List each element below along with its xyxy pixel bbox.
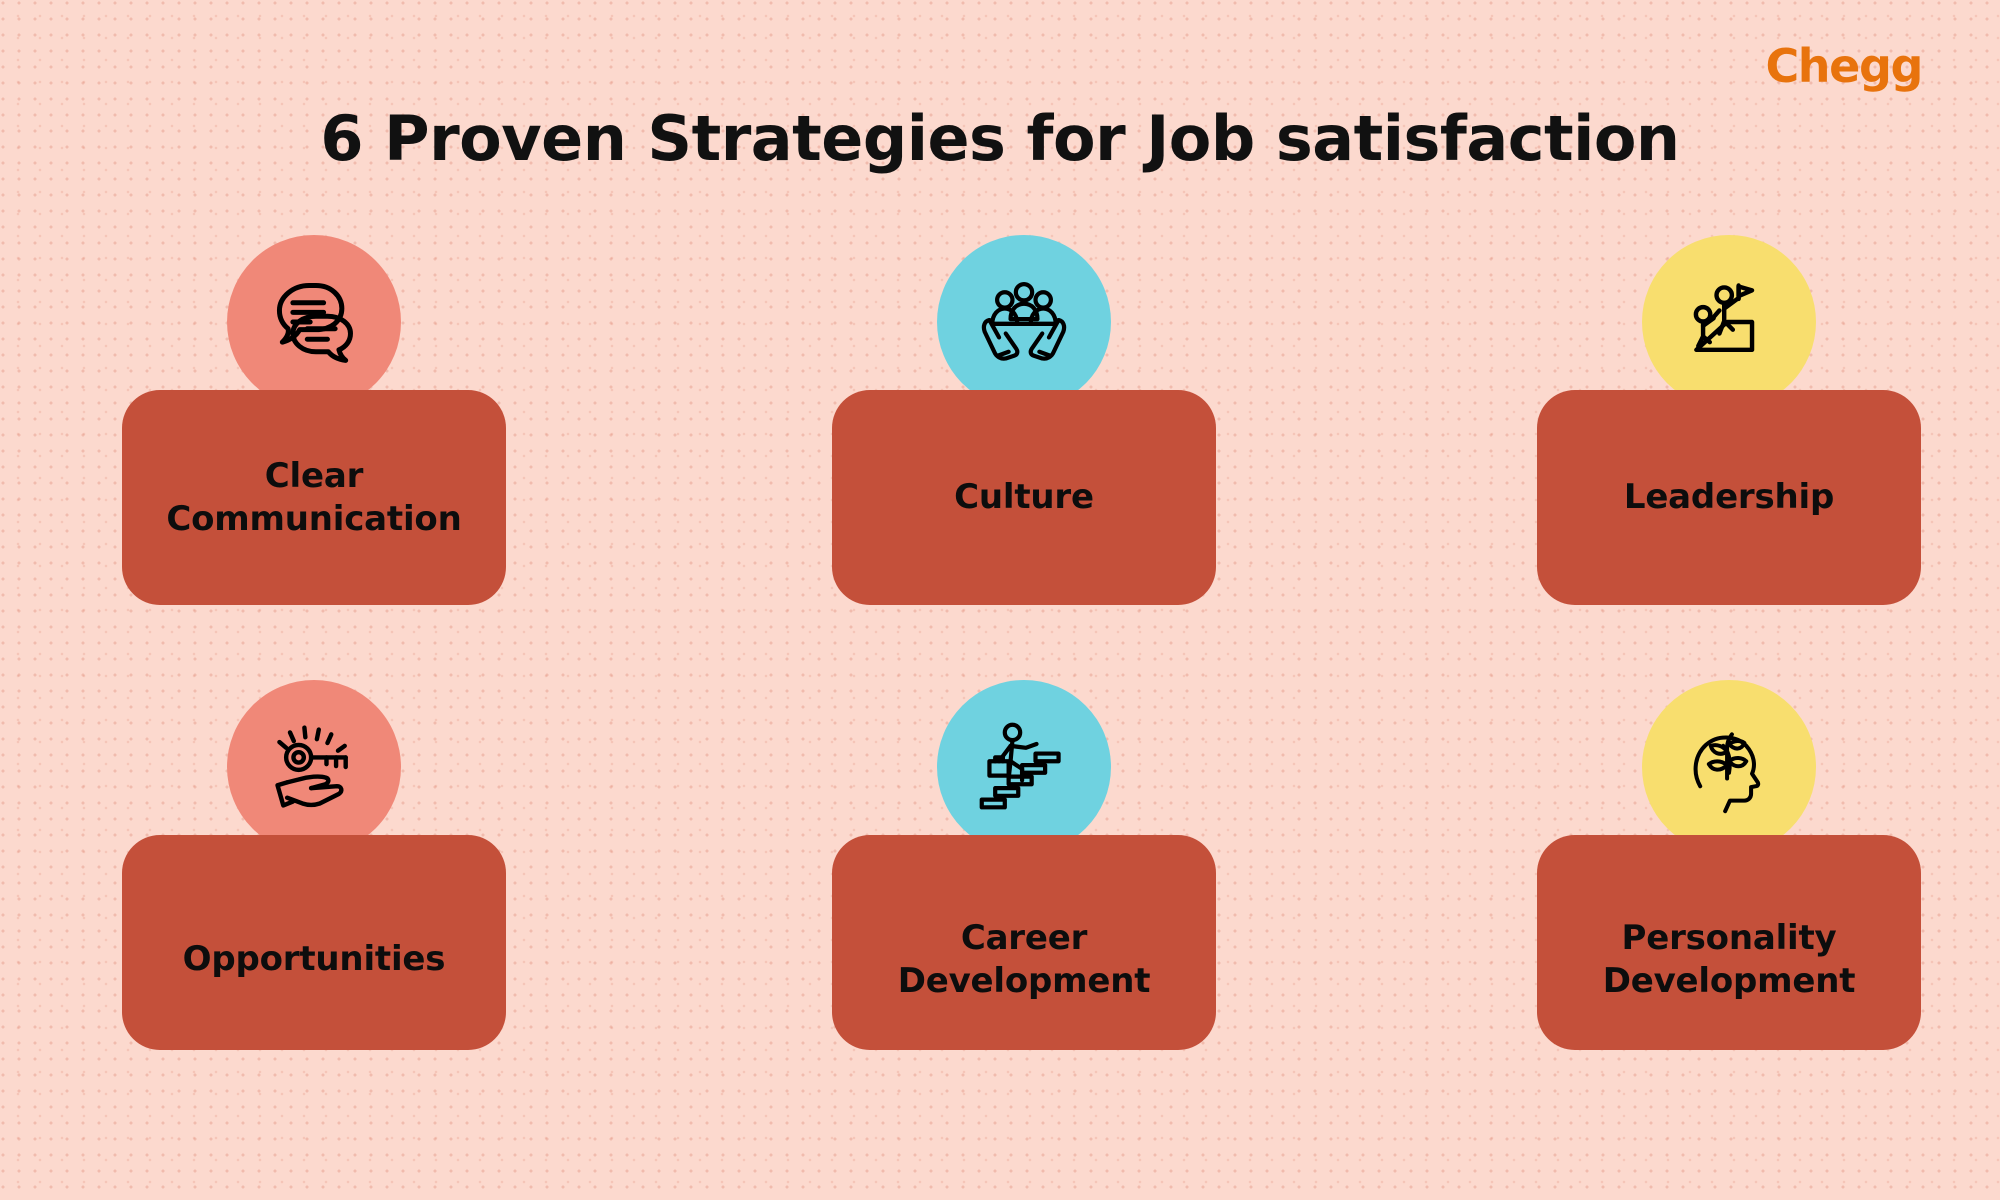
card-body-career-development[interactable]: Career Development: [832, 835, 1216, 1050]
strategy-card-personality-development[interactable]: Personality Development: [1537, 680, 1921, 1070]
leader-with-flag-icon: [1681, 274, 1777, 370]
icon-badge-culture: [937, 235, 1111, 409]
card-label: Career Development: [898, 917, 1151, 1002]
strategy-card-career-development[interactable]: Career Development: [832, 680, 1216, 1070]
card-body-opportunities[interactable]: Opportunities: [122, 835, 506, 1050]
hand-with-key-icon: [266, 719, 362, 815]
icon-badge-leadership: [1642, 235, 1816, 409]
card-label: Leadership: [1624, 476, 1834, 519]
people-in-hands-icon: [976, 274, 1072, 370]
strategy-card-opportunities[interactable]: Opportunities: [122, 680, 506, 1070]
card-body-personality-development[interactable]: Personality Development: [1537, 835, 1921, 1050]
card-body-clear-communication[interactable]: Clear Communication: [122, 390, 506, 605]
strategies-grid: Clear Communication: [0, 0, 2000, 1200]
icon-badge-opportunities: [227, 680, 401, 854]
head-with-plant-icon: [1681, 719, 1777, 815]
card-label: Culture: [954, 476, 1094, 519]
card-label: Clear Communication: [166, 455, 461, 540]
card-body-leadership[interactable]: Leadership: [1537, 390, 1921, 605]
card-label: Opportunities: [183, 938, 446, 981]
strategy-card-clear-communication[interactable]: Clear Communication: [122, 235, 506, 625]
infographic-canvas: 6 Proven Strategies for Job satisfaction…: [0, 0, 2000, 1200]
card-body-culture[interactable]: Culture: [832, 390, 1216, 605]
icon-badge-career-development: [937, 680, 1111, 854]
speech-bubbles-icon: [266, 274, 362, 370]
icon-badge-personality-development: [1642, 680, 1816, 854]
person-climbing-stairs-icon: [976, 719, 1072, 815]
icon-badge-clear-communication: [227, 235, 401, 409]
strategy-card-leadership[interactable]: Leadership: [1537, 235, 1921, 625]
card-label: Personality Development: [1603, 917, 1856, 1002]
strategy-card-culture[interactable]: Culture: [832, 235, 1216, 625]
